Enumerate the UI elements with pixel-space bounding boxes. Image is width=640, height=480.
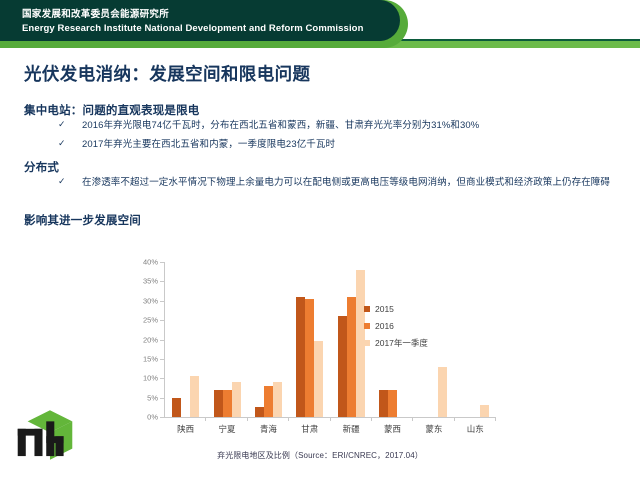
bar-2017年一季度-蒙东 [438, 367, 447, 417]
legend-item: 2017年一季度 [364, 334, 428, 351]
bar-2017年一季度-陕西 [190, 376, 199, 417]
bar-2016-青海 [264, 386, 273, 417]
check-icon: ✓ [58, 138, 66, 149]
y-axis-tick [160, 262, 164, 263]
y-axis-tick [160, 378, 164, 379]
bar-2016-新疆 [347, 297, 356, 417]
bar-2015-宁夏 [214, 390, 223, 417]
check-icon: ✓ [58, 176, 66, 187]
y-axis-tick [160, 301, 164, 302]
bar-group: 山东 [455, 262, 496, 417]
bar-2017年一季度-青海 [273, 382, 282, 417]
x-axis-tick-label: 宁夏 [219, 423, 236, 435]
check-icon: ✓ [58, 119, 66, 130]
y-axis-tick-label: 0% [147, 413, 158, 422]
x-axis-tick-label: 青海 [260, 423, 277, 435]
x-axis-tick-label: 山东 [467, 423, 484, 435]
chart-caption: 弃光限电地区及比例（Source：ERI/CNREC，2017.04） [0, 450, 640, 461]
y-axis-tick-label: 35% [143, 277, 158, 286]
bar-group: 宁夏 [206, 262, 247, 417]
bar-2017年一季度-山东 [480, 405, 489, 417]
y-axis-tick [160, 340, 164, 341]
bar-group: 甘肃 [289, 262, 330, 417]
chart-legend: 201520162017年一季度 [364, 300, 428, 351]
y-axis-tick [160, 320, 164, 321]
bar-group: 青海 [248, 262, 289, 417]
legend-swatch-icon [364, 306, 370, 312]
bar-group: 陕西 [165, 262, 206, 417]
bar-chart: 40%35%30%25%20%15%10%5%0% 陕西宁夏青海甘肃新疆蒙西蒙东… [136, 256, 516, 441]
bar-2015-新疆 [338, 316, 347, 417]
y-axis-tick-label: 5% [147, 393, 158, 402]
bar-2015-甘肃 [296, 297, 305, 417]
header-banner: 国家发展和改革委员会能源研究所 Energy Research Institut… [0, 0, 408, 48]
x-axis-tick-label: 陕西 [177, 423, 194, 435]
y-axis-tick-label: 30% [143, 296, 158, 305]
y-axis-tick-label: 40% [143, 258, 158, 267]
bar-groups: 陕西宁夏青海甘肃新疆蒙西蒙东山东 [165, 262, 496, 417]
org-name-cn: 国家发展和改革委员会能源研究所 [22, 8, 363, 21]
header-text-block: 国家发展和改革委员会能源研究所 Energy Research Institut… [22, 8, 363, 36]
section-heading-3: 影响其进一步发展空间 [24, 212, 141, 228]
legend-swatch-icon [364, 340, 370, 346]
y-axis-tick [160, 281, 164, 282]
legend-label: 2017年一季度 [375, 337, 428, 349]
section-heading-1: 集中电站：问题的直观表现是限电 [24, 102, 200, 118]
x-axis-tick-label: 甘肃 [301, 423, 318, 435]
legend-label: 2015 [375, 304, 394, 314]
y-axis-tick-label: 15% [143, 354, 158, 363]
bar-2015-陕西 [172, 398, 181, 417]
bullet-2-1: 在渗透率不超过一定水平情况下物理上余量电力可以在配电侧或更高电压等级电网消纳，但… [82, 176, 612, 190]
x-axis-tick-label: 新疆 [343, 423, 360, 435]
y-axis-tick-label: 20% [143, 335, 158, 344]
y-axis-tick [160, 398, 164, 399]
legend-swatch-icon [364, 323, 370, 329]
bar-2015-蒙西 [379, 390, 388, 417]
section-heading-2: 分布式 [24, 159, 59, 175]
legend-item: 2016 [364, 317, 428, 334]
x-axis-tick-label: 蒙西 [384, 423, 401, 435]
y-axis-tick-label: 10% [143, 374, 158, 383]
y-axis-tick [160, 359, 164, 360]
slide: 国家发展和改革委员会能源研究所 Energy Research Institut… [0, 0, 640, 480]
bar-2015-青海 [255, 407, 264, 417]
eri-cube-logo [14, 404, 76, 466]
legend-item: 2015 [364, 300, 428, 317]
bar-2017年一季度-宁夏 [232, 382, 241, 417]
x-axis-tick-label: 蒙东 [425, 423, 442, 435]
bar-2017年一季度-甘肃 [314, 341, 323, 417]
bar-2016-甘肃 [305, 299, 314, 417]
org-name-en: Energy Research Institute National Devel… [22, 22, 363, 36]
bar-2016-宁夏 [223, 390, 232, 417]
bullet-1-1: 2016年弃光限电74亿千瓦时，分布在西北五省和蒙西，新疆、甘肃弃光光率分别为3… [82, 119, 602, 133]
bullet-1-2: 2017年弃光主要在西北五省和内蒙，一季度限电23亿千瓦时 [82, 138, 602, 152]
y-axis-tick [160, 417, 164, 418]
y-axis-tick-label: 25% [143, 316, 158, 325]
page-title: 光伏发电消纳：发展空间和限电问题 [24, 61, 310, 86]
legend-label: 2016 [375, 321, 394, 331]
bar-2016-蒙西 [388, 390, 397, 417]
